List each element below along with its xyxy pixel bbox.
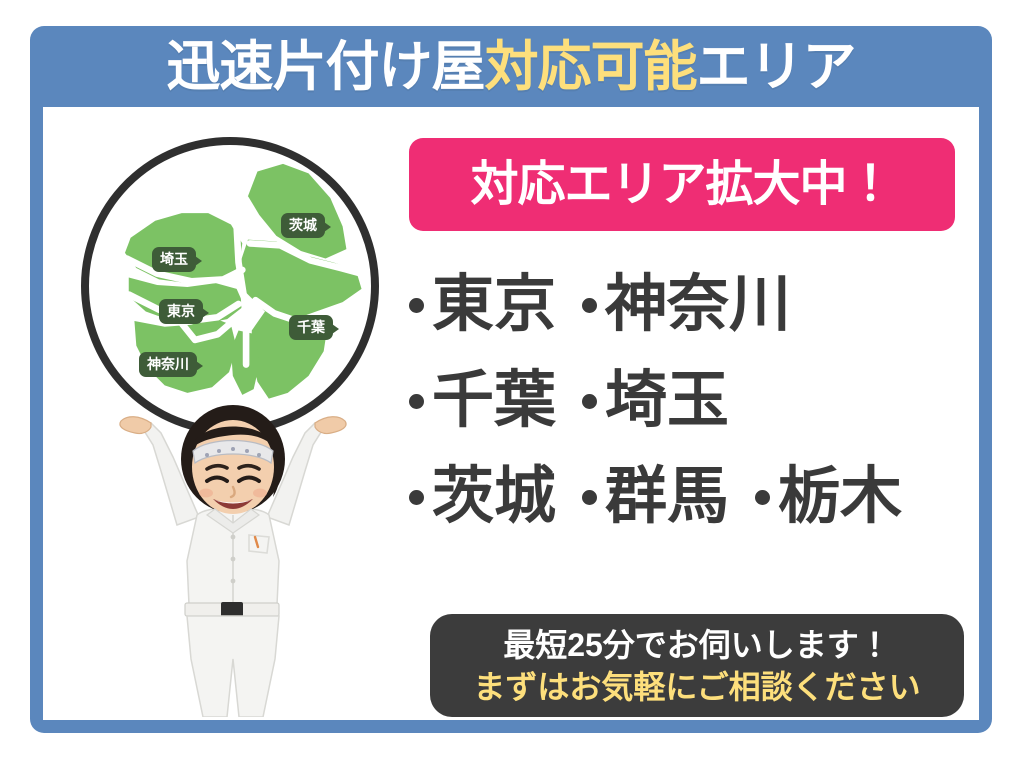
bullet-icon [409,298,424,313]
map-label-tokyo: 東京 [159,299,203,324]
map-label-ibaraki: 茨城 [281,213,325,238]
expanding-area-banner: 対応エリア拡大中！ [409,138,955,231]
area-item-label: 千葉 [432,370,556,432]
staff-photo [103,397,363,717]
area-item-label: 埼玉 [605,370,729,432]
header-band: 迅速片付け屋対応可能エリア [30,26,992,107]
area-item-tochigi: 栃木 [755,466,902,528]
area-row: 茨城 群馬 栃木 [409,449,989,545]
map-label-saitama: 埼玉 [152,247,196,272]
bullet-icon [755,490,770,505]
area-item-label: 神奈川 [605,274,791,336]
coverage-area-list: 東京 神奈川 千葉 埼玉 茨 [409,257,989,545]
area-item-tokyo: 東京 [409,274,556,336]
poster-frame: 迅速片付け屋対応可能エリア [30,26,992,733]
area-item-label: 茨城 [432,466,556,528]
response-time-callout: 最短25分でお伺いします！ まずはお気軽にご相談ください [430,614,964,717]
bullet-icon [409,490,424,505]
bullet-icon [582,394,597,409]
bullet-icon [582,490,597,505]
map-label-chiba: 千葉 [289,315,333,340]
area-item-saitama: 埼玉 [582,370,729,432]
area-item-gunma: 群馬 [582,466,729,528]
page-title: 迅速片付け屋対応可能エリア [167,40,856,94]
area-item-ibaraki: 茨城 [409,466,556,528]
page-title-part-1: 迅速片付け屋 [167,37,485,97]
area-item-label: 東京 [432,274,556,336]
bullet-icon [582,298,597,313]
coverage-map: 茨城 埼玉 東京 千葉 神奈川 [81,137,379,435]
area-row: 東京 神奈川 [409,257,989,353]
area-row: 千葉 埼玉 [409,353,989,449]
area-item-label: 栃木 [778,466,902,528]
expanding-area-banner-text: 対応エリア拡大中！ [470,161,893,209]
bullet-icon [409,394,424,409]
area-item-chiba: 千葉 [409,370,556,432]
content-panel: 茨城 埼玉 東京 千葉 神奈川 [43,107,979,720]
area-item-kanagawa: 神奈川 [582,274,791,336]
contact-invitation-text: まずはお気軽にご相談ください [473,671,920,703]
page-title-part-3: エリア [697,37,856,97]
response-time-text: 最短25分でお伺いします！ [503,629,891,661]
map-label-kanagawa: 神奈川 [139,352,197,377]
page-title-part-2: 対応可能 [485,37,697,97]
area-item-label: 群馬 [605,466,729,528]
